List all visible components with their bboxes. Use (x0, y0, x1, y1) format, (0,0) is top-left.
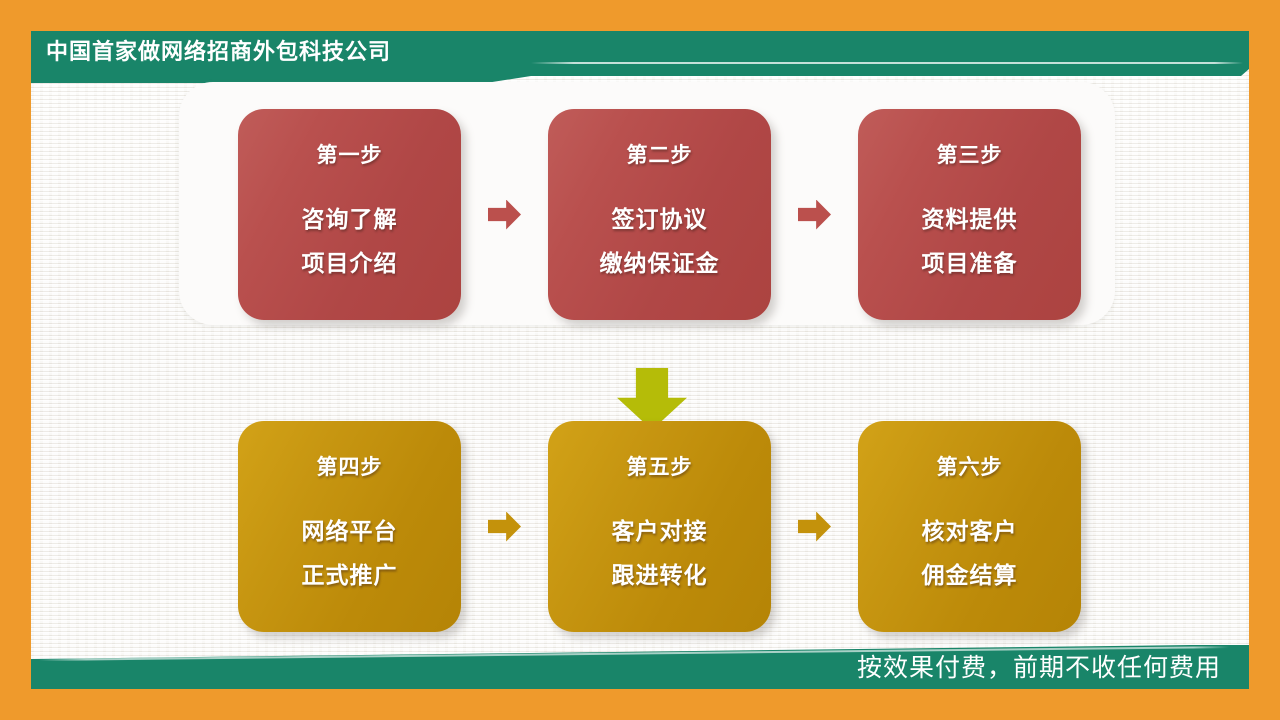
arrow-right-icon (488, 512, 521, 542)
step-card-6-label: 第六步 (937, 451, 1003, 481)
step-card-6-body: 核对客户 佣金结算 (922, 509, 1018, 597)
arrow-right-icon (798, 200, 831, 230)
step-card-1-line1: 咨询了解 (302, 197, 398, 241)
step-card-4-label: 第四步 (317, 451, 383, 481)
slide-root: 中国首家做网络招商外包科技公司 第一步 咨询了解 项目介绍 第二步 签订协议 缴… (0, 0, 1280, 720)
step-card-2-label: 第二步 (627, 139, 693, 169)
step-card-3-line2: 项目准备 (922, 241, 1018, 285)
step-card-5-line2: 跟进转化 (612, 553, 708, 597)
page-title: 中国首家做网络招商外包科技公司 (46, 36, 391, 68)
arrow-right-icon (798, 512, 831, 542)
flow-row-bottom: 第四步 网络平台 正式推广 第五步 客户对接 跟进转化 第六 (31, 421, 1249, 632)
step-card-6-line2: 佣金结算 (922, 553, 1018, 597)
step-card-3[interactable]: 第三步 资料提供 项目准备 (858, 109, 1081, 320)
step-card-2-line2: 缴纳保证金 (600, 241, 720, 285)
step-card-2-body: 签订协议 缴纳保证金 (600, 197, 720, 285)
step-card-6[interactable]: 第六步 核对客户 佣金结算 (858, 421, 1081, 632)
footer-tagline: 按效果付费，前期不收任何费用 (857, 652, 1221, 684)
header-hairline (531, 62, 1243, 64)
step-card-4-body: 网络平台 正式推广 (302, 509, 398, 597)
step-card-5-body: 客户对接 跟进转化 (612, 509, 708, 597)
connector-3 (461, 512, 548, 542)
arrow-right-icon (488, 200, 521, 230)
step-card-3-line1: 资料提供 (922, 197, 1018, 241)
step-card-6-line1: 核对客户 (922, 509, 1018, 553)
connector-2 (771, 200, 858, 230)
step-card-5-label: 第五步 (627, 451, 693, 481)
step-card-4-line2: 正式推广 (302, 553, 398, 597)
step-card-5-line1: 客户对接 (612, 509, 708, 553)
connector-4 (771, 512, 858, 542)
step-card-1-line2: 项目介绍 (302, 241, 398, 285)
step-card-1-label: 第一步 (317, 139, 383, 169)
step-card-2-line1: 签订协议 (600, 197, 720, 241)
flow-row-top: 第一步 咨询了解 项目介绍 第二步 签订协议 缴纳保证金 第 (31, 109, 1249, 320)
step-card-1-body: 咨询了解 项目介绍 (302, 197, 398, 285)
connector-1 (461, 200, 548, 230)
step-card-1[interactable]: 第一步 咨询了解 项目介绍 (238, 109, 461, 320)
step-card-5[interactable]: 第五步 客户对接 跟进转化 (548, 421, 771, 632)
step-card-4[interactable]: 第四步 网络平台 正式推广 (238, 421, 461, 632)
step-card-4-line1: 网络平台 (302, 509, 398, 553)
step-card-3-label: 第三步 (937, 139, 1003, 169)
step-card-3-body: 资料提供 项目准备 (922, 197, 1018, 285)
slide-canvas: 中国首家做网络招商外包科技公司 第一步 咨询了解 项目介绍 第二步 签订协议 缴… (31, 31, 1249, 689)
step-card-2[interactable]: 第二步 签订协议 缴纳保证金 (548, 109, 771, 320)
